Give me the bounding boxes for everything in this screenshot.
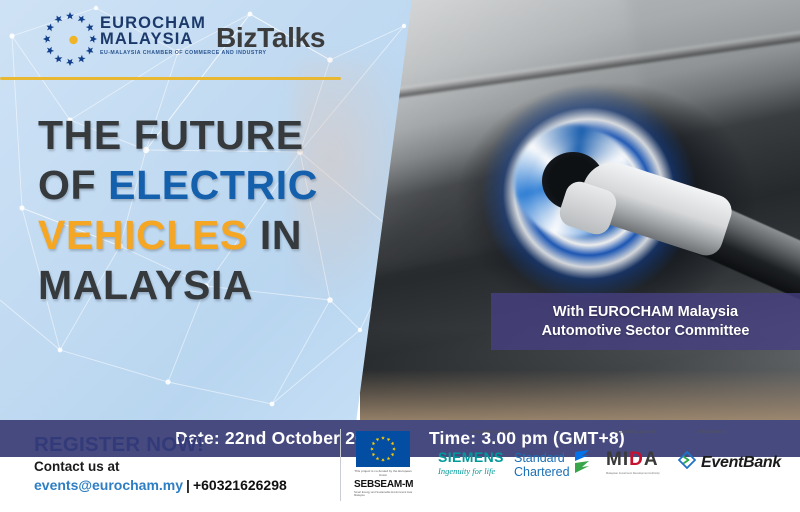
contact-separator: | [183,477,193,493]
committee-line-1: With EUROCHAM Malaysia [542,303,750,322]
register-cta: REGISTER NOW! [34,433,287,457]
contact-details: events@eurocham.my|+60321626298 [34,477,287,493]
siemens-logo: SIEMENS Ingenuity for life [438,449,504,476]
headline-line-2: OF ELECTRIC [38,160,368,210]
ev-charging-port-photo [360,0,800,420]
header-divider-rule [0,77,341,80]
headline-line-1: THE FUTURE [38,110,368,160]
poster-header: EUROCHAM MALAYSIA EU-MALAYSIA CHAMBER OF… [0,0,412,77]
headline-electric: ELECTRIC [108,162,318,208]
crm-partner-label: CRM partner [698,429,727,434]
standard-chartered-line-2: Chartered [514,465,570,479]
corporate-partners-label: Corporate partners [470,429,512,434]
siemens-name: SIEMENS [438,449,504,465]
standard-chartered-mark-icon [573,449,591,480]
supporting-partner-label: Supporting partner [614,429,656,434]
sebseam-name: SEBSEAM-M [354,479,416,490]
headline-vehicles: VEHICLES [38,212,248,258]
eu-flag-caption: This project is co-funded by the Europea… [353,469,413,477]
page-title: THE FUTURE OF ELECTRIC VEHICLES IN MALAY… [38,110,368,310]
mida-subtitle: Malaysian Investment Development Authori… [606,472,660,475]
eu-flag-icon [356,431,410,467]
committee-text: With EUROCHAM Malaysia Automotive Sector… [542,303,750,341]
crescent-moon-star-icon [59,31,81,49]
eventbank-mark-icon [678,451,696,474]
register-block: REGISTER NOW! Contact us at events@euroc… [34,433,287,493]
series-title-biztalks: BizTalks [216,22,325,54]
partners-strip: Corporate partners Supporting partner CR… [350,427,800,507]
headline-line-3: VEHICLES IN [38,210,368,260]
sebseam-subtitle: Smart Energy and Sustainable Environment… [354,491,416,498]
poster-footer: REGISTER NOW! Contact us at events@euroc… [0,457,800,512]
eventbank-logo: EventBank [678,451,781,474]
footer-divider [340,429,341,501]
committee-banner: With EUROCHAM Malaysia Automotive Sector… [491,293,800,350]
eventbank-name: EventBank [701,454,781,472]
mida-logo: MIDA Malaysian Investment Development Au… [606,449,660,475]
contact-label: Contact us at [34,459,287,474]
headline-line-4: MALAYSIA [38,260,368,310]
mida-name: MIDA [606,449,660,471]
contact-phone[interactable]: +60321626298 [193,477,287,493]
event-poster: EUROCHAM MALAYSIA EU-MALAYSIA CHAMBER OF… [0,0,800,512]
committee-line-2: Automotive Sector Committee [542,322,750,341]
headline-in: IN [248,212,302,258]
photo-bottom-warm-tint [360,370,800,420]
siemens-tagline: Ingenuity for life [438,466,504,476]
headline-of: OF [38,162,108,208]
sebseam-logo: SEBSEAM-M Smart Energy and Sustainable E… [354,479,416,498]
standard-chartered-line-1: Standard [514,451,570,465]
standard-chartered-logo: Standard Chartered [514,449,591,480]
contact-email[interactable]: events@eurocham.my [34,477,183,493]
